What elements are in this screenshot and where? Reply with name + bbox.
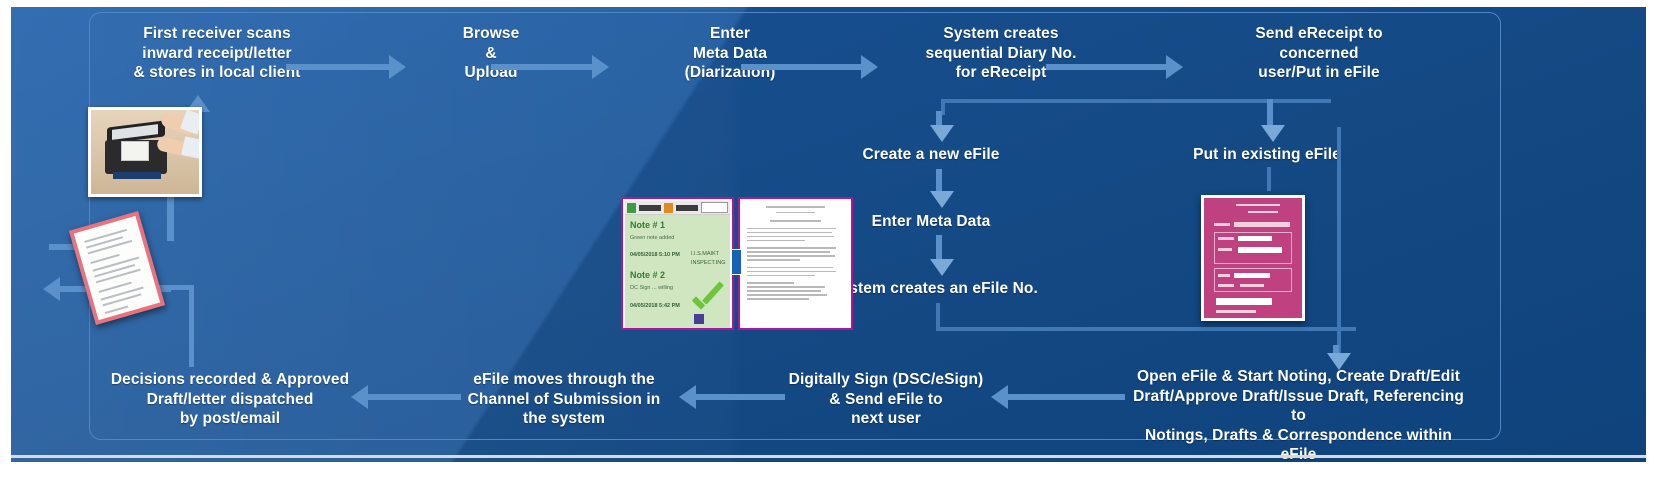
node-put-existing-efile: Put in existing eFile bbox=[1177, 145, 1357, 165]
node-scan: First receiver scans inward receipt/lett… bbox=[93, 24, 341, 83]
node-channel-submission: eFile moves through the Channel of Submi… bbox=[459, 370, 669, 429]
scanner-photo bbox=[88, 107, 202, 197]
note-2-text: DC Sign ... willing bbox=[630, 285, 673, 291]
document-page-tab-icon bbox=[731, 249, 742, 275]
note-1-title: Note # 1 bbox=[630, 220, 665, 230]
node-open-efile: Open eFile & Start Noting, Create Draft/… bbox=[1126, 367, 1471, 462]
note-1-text: Green note added bbox=[630, 235, 674, 241]
note-2-time: 04/05/2018 5:42 PM bbox=[630, 303, 680, 309]
node-enter-meta-data: Enter Meta Data bbox=[851, 212, 1011, 232]
correspondence-document-screenshot bbox=[738, 197, 853, 330]
node-decisions: Decisions recorded & Approved Draft/lett… bbox=[101, 370, 359, 429]
diagram-canvas: First receiver scans inward receipt/lett… bbox=[0, 0, 1657, 477]
node-browse-upload: Browse & Upload bbox=[436, 24, 546, 83]
approved-checkmark-icon bbox=[690, 288, 724, 314]
pink-form-screenshot bbox=[1201, 195, 1305, 321]
node-create-new-efile: Create a new eFile bbox=[851, 145, 1011, 165]
node-digitally-sign: Digitally Sign (DSC/eSign) & Send eFile … bbox=[779, 370, 993, 429]
note-1-time: 04/05/2018 5:10 PM bbox=[630, 252, 680, 258]
noting-sheet-screenshot: Note # 1 Green note added 04/05/2018 5:1… bbox=[621, 197, 734, 330]
slide-panel: First receiver scans inward receipt/lett… bbox=[11, 7, 1646, 462]
node-enter-meta: Enter Meta Data (Diarization) bbox=[641, 24, 819, 83]
note-2-title: Note # 2 bbox=[630, 270, 665, 280]
letter-photo bbox=[69, 211, 165, 325]
note-1-signature-line-1: I.I.S.MAIKT bbox=[691, 251, 719, 257]
note-1-signature-line-2: INSPECT.ING bbox=[691, 260, 726, 266]
node-system-creates-efile-no: System creates an eFile No. bbox=[826, 279, 1042, 299]
noting-toolbar bbox=[625, 201, 730, 215]
digital-signature-stamp-icon bbox=[694, 314, 704, 324]
page-baseline bbox=[11, 455, 1646, 458]
node-send-ereceipt: Send eReceipt to concerned user/Put in e… bbox=[1211, 24, 1427, 83]
efile-screenshot-pair: Note # 1 Green note added 04/05/2018 5:1… bbox=[621, 197, 853, 330]
node-diary-no: System creates sequential Diary No. for … bbox=[891, 24, 1111, 83]
